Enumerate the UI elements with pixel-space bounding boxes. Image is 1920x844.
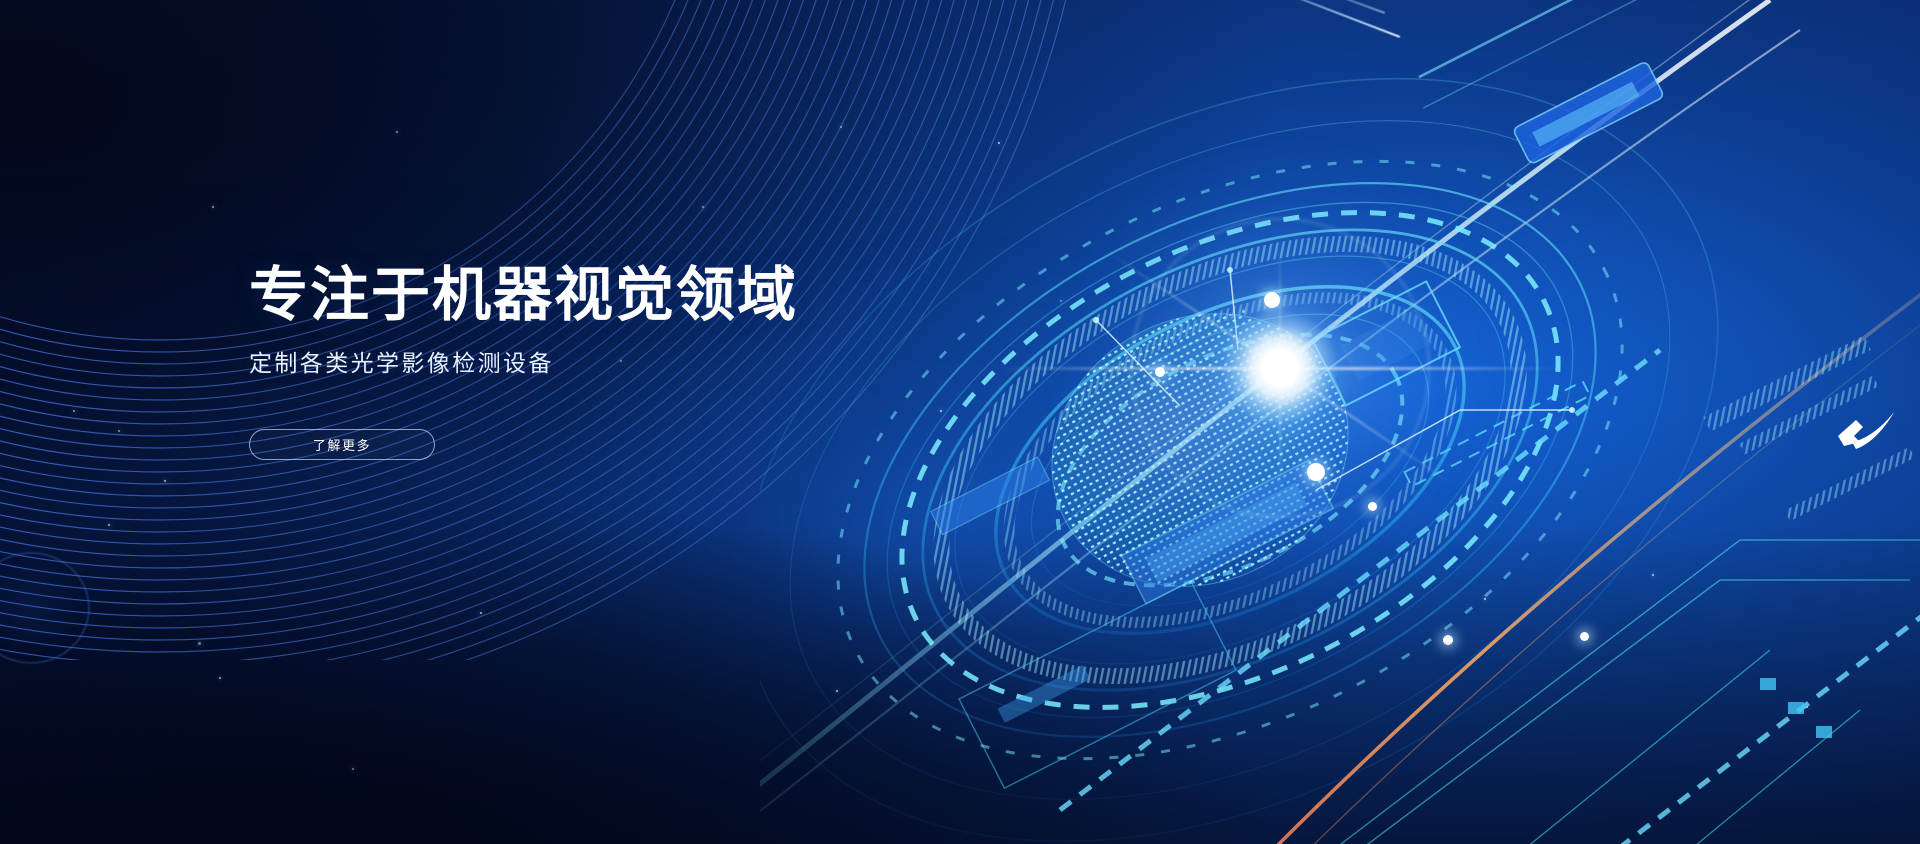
spark-dot-icon: [1443, 635, 1453, 645]
spark-dot-icon: [1368, 502, 1377, 511]
hero-copy: 专注于机器视觉领域 定制各类光学影像检测设备 了解更多: [249, 262, 949, 460]
light-burst-core-icon: [1205, 293, 1355, 443]
page-subtitle: 定制各类光学影像检测设备: [249, 347, 949, 379]
brand-swoosh-mark-icon: [1830, 396, 1902, 458]
page-title: 专注于机器视觉领域: [249, 262, 949, 328]
spark-dot-icon: [1580, 632, 1589, 641]
spark-dot-icon: [1264, 292, 1280, 308]
spark-dot-icon: [1155, 367, 1165, 377]
hero-banner: 专注于机器视觉领域 定制各类光学影像检测设备 了解更多: [0, 0, 1920, 844]
spark-dot-icon: [1307, 463, 1325, 481]
learn-more-button[interactable]: 了解更多: [249, 429, 435, 460]
